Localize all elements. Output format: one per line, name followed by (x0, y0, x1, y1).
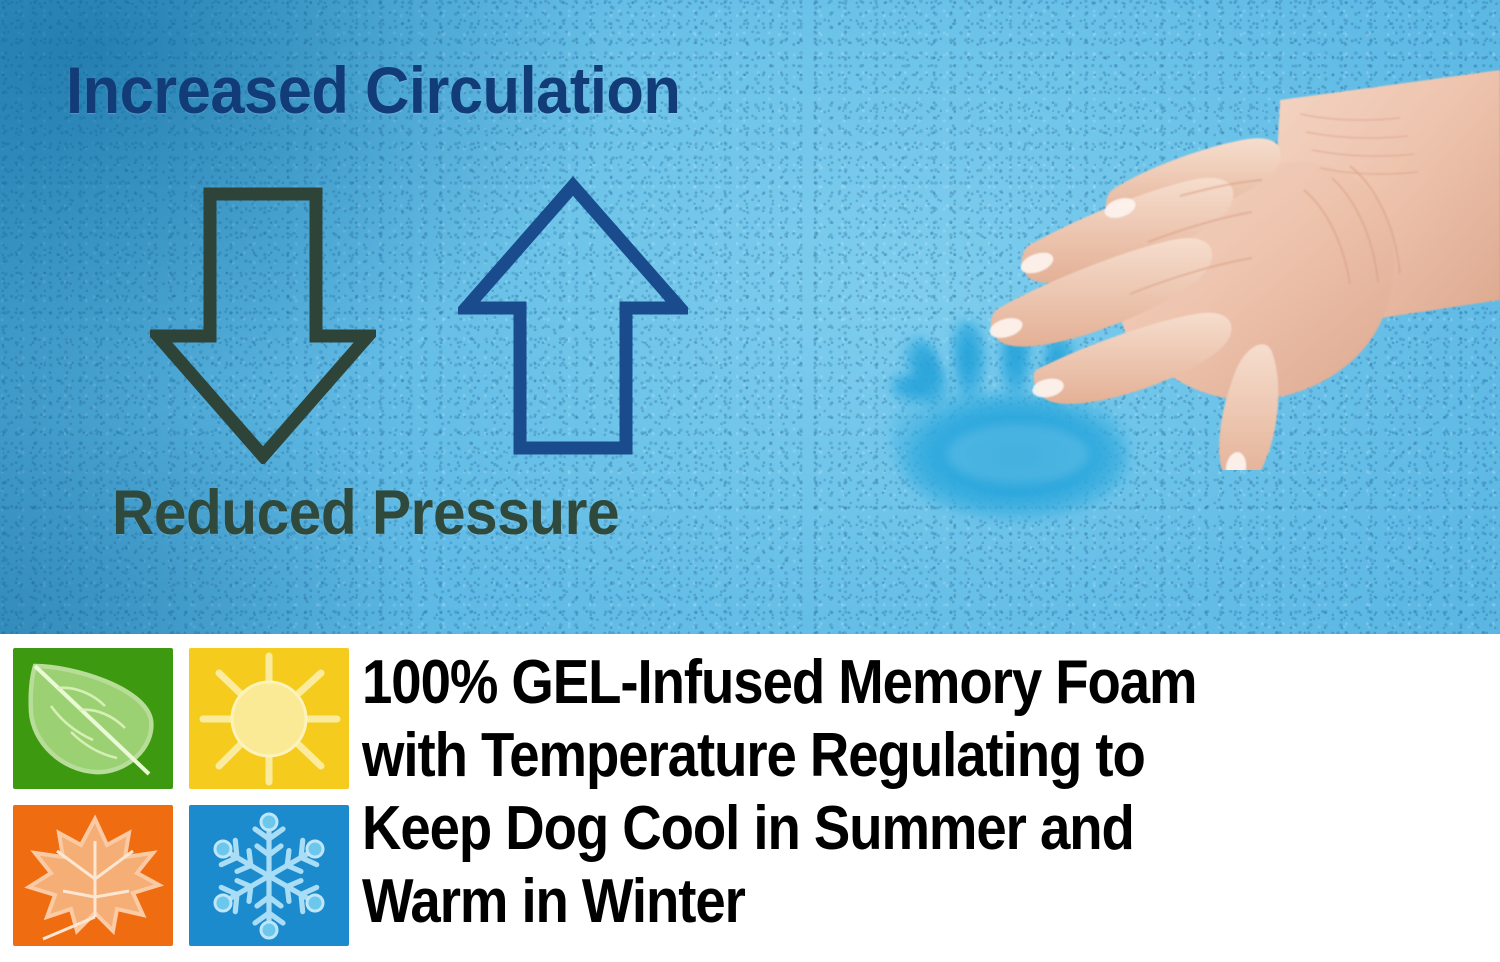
handprint-impression (868, 312, 1198, 562)
snowflake-icon (189, 805, 349, 946)
arrow-down-icon (150, 186, 376, 464)
green-leaf-icon (13, 648, 173, 789)
sun-icon (189, 648, 349, 789)
maple-leaf-icon (13, 805, 173, 946)
hand-illustration (880, 70, 1500, 470)
headline-line-4: Warm in Winter (362, 865, 1363, 938)
product-headline: 100% GEL-Infused Memory Foam with Temper… (362, 646, 1500, 938)
arrow-up-icon (458, 176, 688, 458)
increased-circulation-label: Increased Circulation (66, 52, 680, 128)
promo-image: Increased Circulation Reduced Pressure (0, 0, 1500, 962)
headline-line-1: 100% GEL-Infused Memory Foam (362, 646, 1363, 719)
season-tile-spring (13, 648, 173, 789)
headline-line-2: with Temperature Regulating to (362, 719, 1363, 792)
season-tile-summer (189, 648, 349, 789)
foam-photo: Increased Circulation Reduced Pressure (0, 0, 1500, 634)
headline-line-3: Keep Dog Cool in Summer and (362, 792, 1363, 865)
season-icon-grid (13, 648, 349, 948)
reduced-pressure-label: Reduced Pressure (112, 477, 619, 549)
season-tile-autumn (13, 805, 173, 946)
season-tile-winter (189, 805, 349, 946)
feature-panel: 100% GEL-Infused Memory Foam with Temper… (0, 634, 1500, 962)
